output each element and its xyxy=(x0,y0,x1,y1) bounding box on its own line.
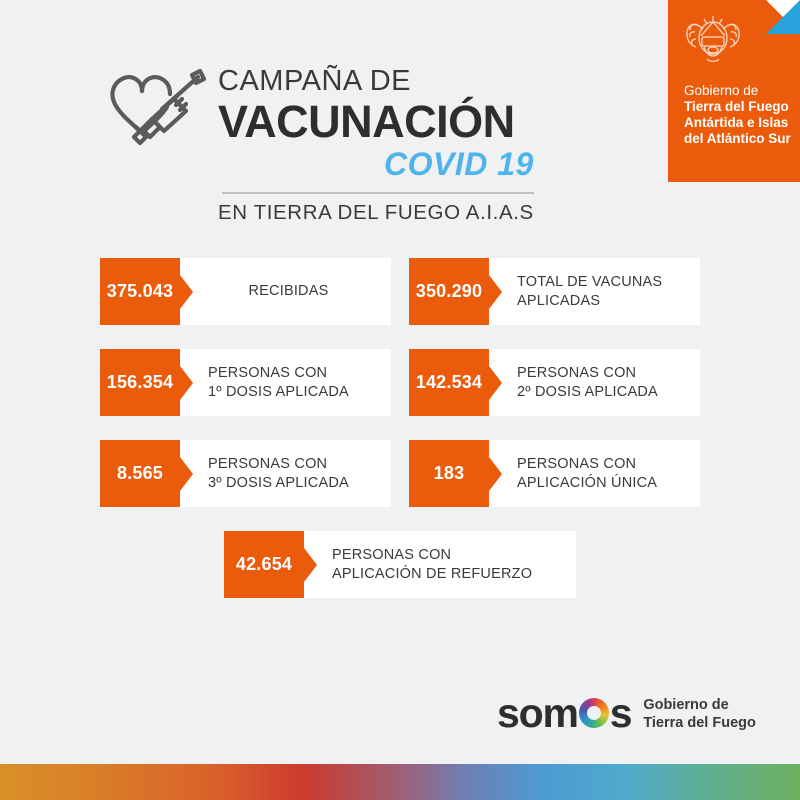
stat-label-text: RECIBIDAS xyxy=(249,282,329,301)
logo-corner-blue-triangle xyxy=(766,0,800,34)
somos-wordmark: som s xyxy=(497,690,631,737)
stat-value-badge: 142.534 xyxy=(409,349,489,416)
coat-of-arms-icon xyxy=(685,12,741,66)
stat-card: 142.534 PERSONAS CON 2º DOSIS APLICADA xyxy=(409,349,700,416)
stat-row: 8.565 PERSONAS CON 3º DOSIS APLICADA 183… xyxy=(0,440,800,507)
stat-label-text: PERSONAS CON APLICACIÓN DE REFUERZO xyxy=(332,546,532,583)
title-line-covid: COVID 19 xyxy=(218,146,534,183)
stat-card: 350.290 TOTAL DE VACUNAS APLICADAS xyxy=(409,258,700,325)
campaign-title-block: CAMPAÑA DE VACUNACIÓN COVID 19 EN TIERRA… xyxy=(100,55,534,225)
stat-label: PERSONAS CON APLICACIÓN ÚNICA xyxy=(489,440,700,507)
heart-syringe-icon xyxy=(100,65,208,161)
title-divider xyxy=(222,192,534,194)
title-subtitle: EN TIERRA DEL FUEGO A.I.A.S xyxy=(218,201,534,225)
somos-text-end: s xyxy=(610,690,632,737)
stat-value-badge: 156.354 xyxy=(100,349,180,416)
stats-section: 375.043 RECIBIDAS 350.290 TOTAL DE VACUN… xyxy=(0,258,800,622)
government-logo: Gobierno de Tierra del Fuego Antártida e… xyxy=(668,0,800,182)
gov-text-line-3: Antártida e Islas xyxy=(684,115,791,131)
stat-card: 375.043 RECIBIDAS xyxy=(100,258,391,325)
stat-row: 375.043 RECIBIDAS 350.290 TOTAL DE VACUN… xyxy=(0,258,800,325)
stat-label: RECIBIDAS xyxy=(180,258,391,325)
somos-color-ring-icon xyxy=(579,698,609,728)
somos-subtitle-line-2: Tierra del Fuego xyxy=(643,715,756,732)
stat-card: 42.654 PERSONAS CON APLICACIÓN DE REFUER… xyxy=(224,531,576,598)
stat-card: 8.565 PERSONAS CON 3º DOSIS APLICADA xyxy=(100,440,391,507)
somos-logo: som s Gobierno de Tierra del Fuego xyxy=(497,690,756,737)
title-line-campana: CAMPAÑA DE xyxy=(218,67,534,96)
gov-text-line-1: Gobierno de xyxy=(684,83,791,99)
somos-subtitle: Gobierno de Tierra del Fuego xyxy=(643,695,756,732)
bottom-gradient-strip xyxy=(0,764,800,800)
header: CAMPAÑA DE VACUNACIÓN COVID 19 EN TIERRA… xyxy=(0,0,800,215)
stat-label-text: TOTAL DE VACUNAS APLICADAS xyxy=(517,273,662,310)
somos-subtitle-line-1: Gobierno de xyxy=(643,697,756,714)
stat-value-badge: 42.654 xyxy=(224,531,304,598)
title-line-vacunacion: VACUNACIÓN xyxy=(218,98,534,145)
stat-label-text: PERSONAS CON 3º DOSIS APLICADA xyxy=(208,455,349,492)
stat-label-text: PERSONAS CON 1º DOSIS APLICADA xyxy=(208,364,349,401)
stat-value-badge: 350.290 xyxy=(409,258,489,325)
stat-row: 42.654 PERSONAS CON APLICACIÓN DE REFUER… xyxy=(0,531,800,598)
stat-value-badge: 375.043 xyxy=(100,258,180,325)
stat-label-text: PERSONAS CON 2º DOSIS APLICADA xyxy=(517,364,658,401)
stat-label: PERSONAS CON 2º DOSIS APLICADA xyxy=(489,349,700,416)
stat-label-text: PERSONAS CON APLICACIÓN ÚNICA xyxy=(517,455,657,492)
somos-text-start: som xyxy=(497,690,578,737)
stat-card: 156.354 PERSONAS CON 1º DOSIS APLICADA xyxy=(100,349,391,416)
stat-label: PERSONAS CON APLICACIÓN DE REFUERZO xyxy=(304,531,576,598)
stat-label: TOTAL DE VACUNAS APLICADAS xyxy=(489,258,700,325)
stat-card: 183 PERSONAS CON APLICACIÓN ÚNICA xyxy=(409,440,700,507)
stat-row: 156.354 PERSONAS CON 1º DOSIS APLICADA 1… xyxy=(0,349,800,416)
gov-text-line-2: Tierra del Fuego xyxy=(684,99,791,115)
title-text-group: CAMPAÑA DE VACUNACIÓN COVID 19 EN TIERRA… xyxy=(218,55,534,225)
stat-label: PERSONAS CON 3º DOSIS APLICADA xyxy=(180,440,391,507)
government-logo-text: Gobierno de Tierra del Fuego Antártida e… xyxy=(684,83,791,147)
stat-label: PERSONAS CON 1º DOSIS APLICADA xyxy=(180,349,391,416)
stat-value-badge: 8.565 xyxy=(100,440,180,507)
gov-text-line-4: del Atlántico Sur xyxy=(684,131,791,147)
stat-value-badge: 183 xyxy=(409,440,489,507)
